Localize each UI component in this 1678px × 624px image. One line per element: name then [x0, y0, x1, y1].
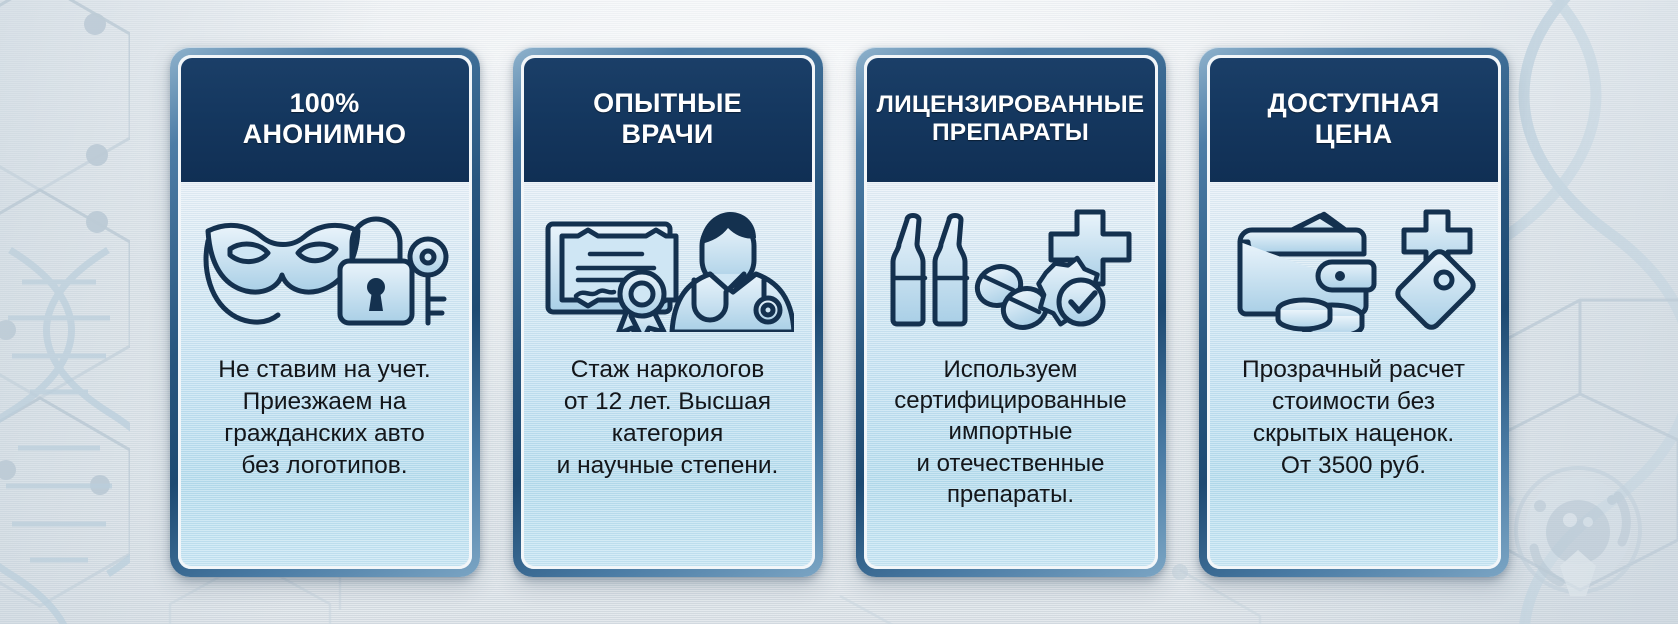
mask-lock-key-icon — [190, 204, 460, 334]
card-header-doctors: ОПЫТНЫЕ ВРАЧИ — [524, 58, 812, 182]
card-body-medicines: Используем сертифицированные импортные и… — [867, 182, 1155, 566]
certificate-doctor-icon — [533, 204, 803, 334]
ampoule-pills-cross-badge-icon — [876, 204, 1146, 334]
card-body-doctors: Стаж наркологов от 12 лет. Высшая катего… — [524, 182, 812, 566]
card-description: Прозрачный расчет стоимости без скрытых … — [1232, 354, 1475, 481]
card-header-price: ДОСТУПНАЯ ЦЕНА — [1210, 58, 1498, 182]
feature-card-doctors[interactable]: ОПЫТНЫЕ ВРАЧИ — [513, 47, 823, 577]
feature-card-price[interactable]: ДОСТУПНАЯ ЦЕНА — [1199, 47, 1509, 577]
feature-cards-row: 100% АНОНИМНО — [0, 0, 1678, 624]
card-title: ОПЫТНЫЕ ВРАЧИ — [593, 88, 742, 150]
wallet-coins-cross-tag-icon — [1219, 204, 1489, 334]
card-body-anonymity: Не ставим на учет. Приезжаем на гражданс… — [181, 182, 469, 566]
card-body-price: Прозрачный расчет стоимости без скрытых … — [1210, 182, 1498, 566]
card-description: Используем сертифицированные импортные и… — [884, 354, 1137, 510]
feature-card-medicines[interactable]: ЛИЦЕНЗИРОВАННЫЕ ПРЕПАРАТЫ — [856, 47, 1166, 577]
card-description: Стаж наркологов от 12 лет. Высшая катего… — [547, 354, 789, 481]
card-description: Не ставим на учет. Приезжаем на гражданс… — [208, 354, 440, 481]
card-title: 100% АНОНИМНО — [243, 88, 407, 150]
feature-card-anonymity[interactable]: 100% АНОНИМНО — [170, 47, 480, 577]
card-title: ЛИЦЕНЗИРОВАННЫЕ ПРЕПАРАТЫ — [877, 91, 1145, 147]
card-header-anonymity: 100% АНОНИМНО — [181, 58, 469, 182]
card-header-medicines: ЛИЦЕНЗИРОВАННЫЕ ПРЕПАРАТЫ — [867, 58, 1155, 182]
card-title: ДОСТУПНАЯ ЦЕНА — [1268, 88, 1440, 150]
